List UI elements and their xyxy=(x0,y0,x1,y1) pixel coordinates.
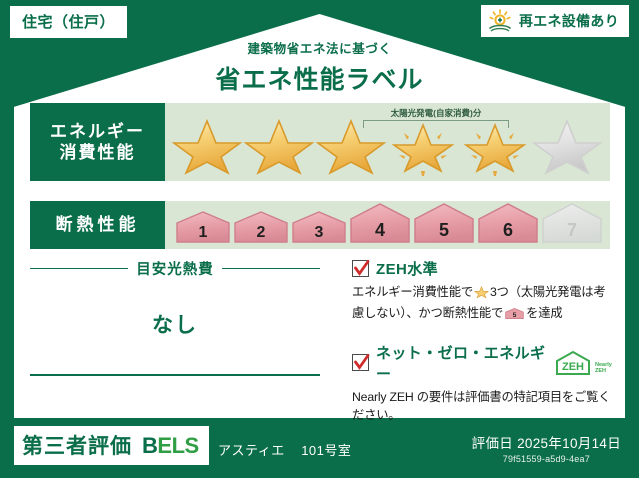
bels-logo: BELS xyxy=(142,433,199,459)
svg-text:3: 3 xyxy=(315,224,324,241)
svg-text:1: 1 xyxy=(199,224,208,241)
net-zero-energy-block: ネット・ゼロ・エネルギー ZEH Nearly ZEH Nearly ZEH の… xyxy=(352,342,614,425)
insulation-level-3: 3 xyxy=(291,210,347,249)
housing-type-badge: 住宅（住戸） xyxy=(10,6,127,38)
utility-cost-section: 目安光熱費 なし xyxy=(30,258,320,376)
insulation-level-5: 5 xyxy=(413,202,475,249)
zeh-standard-block: ZEH水準 エネルギー消費性能で3つ（太陽光発電は考慮しない）、かつ断熱性能で5… xyxy=(352,258,614,327)
svg-text:5: 5 xyxy=(513,313,517,320)
desc-text-a: エネルギー消費性能で xyxy=(352,285,473,299)
checkbox-checked-icon[interactable] xyxy=(352,260,369,277)
zeh-standard-header: ZEH水準 xyxy=(352,258,614,279)
star-icon xyxy=(474,288,489,302)
energy-performance-body: 太陽光発電(自家消費)分 xyxy=(165,103,610,181)
energy-performance-row: エネルギー 消費性能 太陽光発電(自家消費)分 xyxy=(30,103,610,181)
svg-text:ZEH: ZEH xyxy=(595,368,606,374)
heading-rule-left xyxy=(30,268,128,270)
sun-icon xyxy=(487,9,513,33)
evaluation-date: 評価日 2025年10月14日 xyxy=(472,432,621,452)
solar-contribution-caption: 太陽光発電(自家消費)分 xyxy=(363,107,509,119)
checkbox-checked-icon[interactable] xyxy=(352,354,369,371)
room-number: 101号室 xyxy=(301,443,351,458)
utility-cost-value: なし xyxy=(30,309,320,339)
insulation-level-6: 6 xyxy=(477,202,539,249)
label-canvas: 住宅（住戸） 再エネ設備あり 建築物省エネ法に基づく 省エネ性能ラベル xyxy=(0,0,639,478)
utility-cost-bottom-rule xyxy=(30,374,320,376)
insulation-performance-row: 断熱性能 xyxy=(30,201,610,249)
svg-text:ZEH: ZEH xyxy=(562,361,584,373)
solar-contribution-bracket: 太陽光発電(自家消費)分 xyxy=(363,107,509,128)
record-id: 79f51559-a5d9-4ea7 xyxy=(472,454,621,464)
net-zero-energy-header: ネット・ゼロ・エネルギー ZEH Nearly ZEH xyxy=(352,342,614,384)
star-6-empty xyxy=(531,115,603,177)
zeh-section: ZEH水準 エネルギー消費性能で3つ（太陽光発電は考慮しない）、かつ断熱性能で5… xyxy=(352,258,614,425)
bracket-bar xyxy=(363,120,509,128)
utility-cost-heading-text: 目安光熱費 xyxy=(136,258,214,279)
svg-text:4: 4 xyxy=(375,220,385,240)
third-party-eval-label: 第三者評価 xyxy=(22,430,132,460)
title-main: 省エネ性能ラベル xyxy=(0,60,639,96)
star-1-filled xyxy=(171,115,243,177)
insulation-performance-label: 断熱性能 xyxy=(30,201,165,249)
renewable-equipment-badge: 再エネ設備あり xyxy=(481,5,629,37)
heading-rule-right xyxy=(222,268,320,270)
housing-type-label: 住宅（住戸） xyxy=(22,14,115,31)
performance-rows: エネルギー 消費性能 太陽光発電(自家消費)分 xyxy=(30,103,610,249)
evaluation-date-block: 評価日 2025年10月14日 79f51559-a5d9-4ea7 xyxy=(472,432,621,464)
footer-bar: 第三者評価 BELS アスティエ 101号室 評価日 2025年10月14日 7… xyxy=(0,418,639,478)
insulation-performance-body: 1 2 3 xyxy=(165,201,610,249)
insulation-level-7-inactive: 7 xyxy=(541,202,603,249)
zeh-logo: ZEH Nearly ZEH xyxy=(554,350,614,376)
insulation-level-4: 4 xyxy=(349,202,411,249)
label-title: 建築物省エネ法に基づく 省エネ性能ラベル xyxy=(0,38,639,96)
zeh-standard-description: エネルギー消費性能で3つ（太陽光発電は考慮しない）、かつ断熱性能で5を達成 xyxy=(352,283,614,327)
svg-text:6: 6 xyxy=(503,220,513,240)
zeh-standard-title: ZEH水準 xyxy=(376,258,438,279)
insulation-level-1: 1 xyxy=(175,210,231,249)
utility-cost-heading: 目安光熱費 xyxy=(30,258,320,279)
desc-text-c: を達成 xyxy=(526,306,562,320)
building-identification: アスティエ 101号室 xyxy=(218,440,351,459)
bels-certification-plate: 第三者評価 BELS xyxy=(14,426,209,465)
svg-text:5: 5 xyxy=(439,220,449,240)
insulation-level-2: 2 xyxy=(233,210,289,249)
bels-logo-b: B xyxy=(142,433,157,458)
energy-performance-label: エネルギー 消費性能 xyxy=(30,103,165,181)
insulation-level-scale: 1 2 3 xyxy=(165,202,603,249)
title-subtitle: 建築物省エネ法に基づく xyxy=(0,38,639,57)
star-2-filled xyxy=(243,115,315,177)
renewable-equipment-label: 再エネ設備あり xyxy=(519,11,619,31)
svg-text:7: 7 xyxy=(567,220,577,240)
net-zero-energy-title: ネット・ゼロ・エネルギー xyxy=(376,342,547,384)
house-5-icon: 5 xyxy=(505,310,524,324)
svg-text:2: 2 xyxy=(257,224,266,241)
building-name: アスティエ xyxy=(218,443,285,458)
bels-logo-els: ELS xyxy=(157,433,198,458)
